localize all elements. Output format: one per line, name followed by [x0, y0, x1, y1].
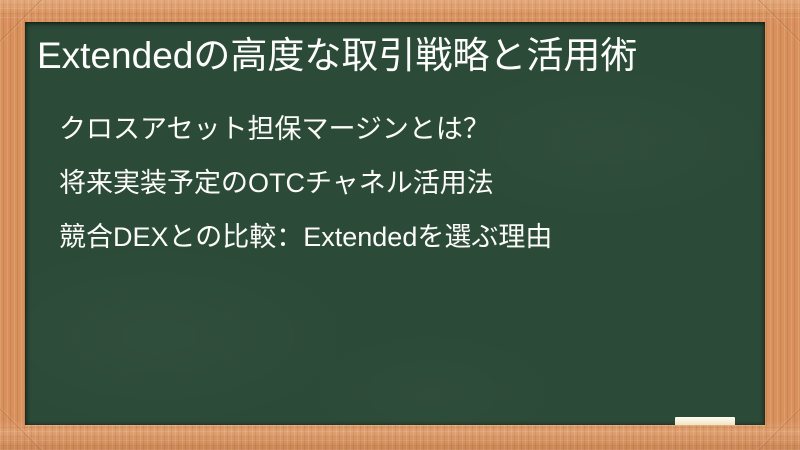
- slide-bullet-list: クロスアセット担保マージンとは？ 将来実装予定のOTCチャネル活用法 競合DEX…: [59, 102, 749, 264]
- slide-title: Extendedの高度な取引戦略と活用術: [37, 28, 753, 84]
- chalkboard-slide: Extendedの高度な取引戦略と活用術 クロスアセット担保マージンとは？ 将来…: [0, 0, 800, 450]
- slide-bullet-item-1: クロスアセット担保マージンとは？: [59, 102, 749, 156]
- chalk-stick-icon: [675, 417, 735, 425]
- slide-bullet-item-2: 将来実装予定のOTCチャネル活用法: [59, 156, 749, 210]
- chalkboard-surface: Extendedの高度な取引戦略と活用術 クロスアセット担保マージンとは？ 将来…: [25, 22, 765, 425]
- slide-bullet-item-3: 競合DEXとの比較：Extendedを選ぶ理由: [59, 210, 749, 264]
